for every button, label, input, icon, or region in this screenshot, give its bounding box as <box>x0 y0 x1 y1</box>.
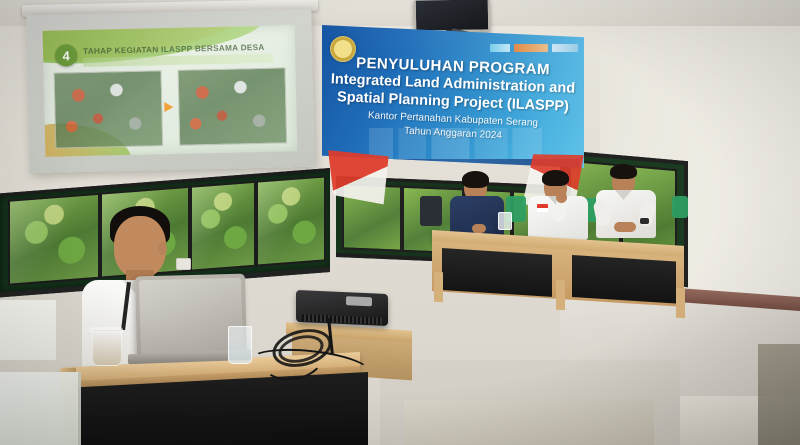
foreground-bag <box>404 400 654 445</box>
slide-aerial-image-after <box>178 67 288 145</box>
drinking-glass <box>498 212 512 230</box>
green-plastic-chair <box>672 196 688 218</box>
hands <box>614 222 636 232</box>
panel-desk-modesty-panel <box>572 255 676 304</box>
partner-logo-icon <box>552 44 578 52</box>
arrow-right-icon <box>164 102 173 112</box>
partner-logo-icon <box>490 44 510 52</box>
slide-aerial-image-before <box>54 70 164 148</box>
event-banner: PENYULUHAN PROGRAM Integrated Land Admin… <box>322 22 584 174</box>
hand <box>556 192 567 203</box>
office-chair <box>420 196 442 226</box>
panel-desk-modesty-panel <box>442 248 552 297</box>
desk-leg <box>556 280 565 311</box>
projection-screen: 4 TAHAP KEGIATAN ILASPP BERSAMA DESA <box>26 9 315 173</box>
panelist-white-shirt-right <box>596 166 658 236</box>
window-pane <box>256 175 326 266</box>
wristwatch <box>640 218 649 224</box>
left-wall-highlight <box>0 300 56 360</box>
ear <box>158 242 167 255</box>
photo-scene: 4 TAHAP KEGIATAN ILASPP BERSAMA DESA PEN… <box>0 0 800 445</box>
plastic-cup <box>92 330 122 366</box>
panelist-white-shirt-flag-patch <box>528 172 590 238</box>
desk-leg <box>676 288 685 319</box>
hair <box>462 171 489 188</box>
hair <box>542 170 569 186</box>
left-window-glow <box>0 372 81 445</box>
presentation-slide: 4 TAHAP KEGIATAN ILASPP BERSAMA DESA <box>43 25 298 157</box>
right-edge-object <box>758 344 800 445</box>
banner-partner-logos <box>490 44 578 52</box>
desk-leg <box>434 272 443 303</box>
flag-emblem-icon <box>537 204 548 212</box>
hands <box>472 224 486 233</box>
hair <box>610 164 637 179</box>
partner-logo-icon <box>514 44 548 52</box>
